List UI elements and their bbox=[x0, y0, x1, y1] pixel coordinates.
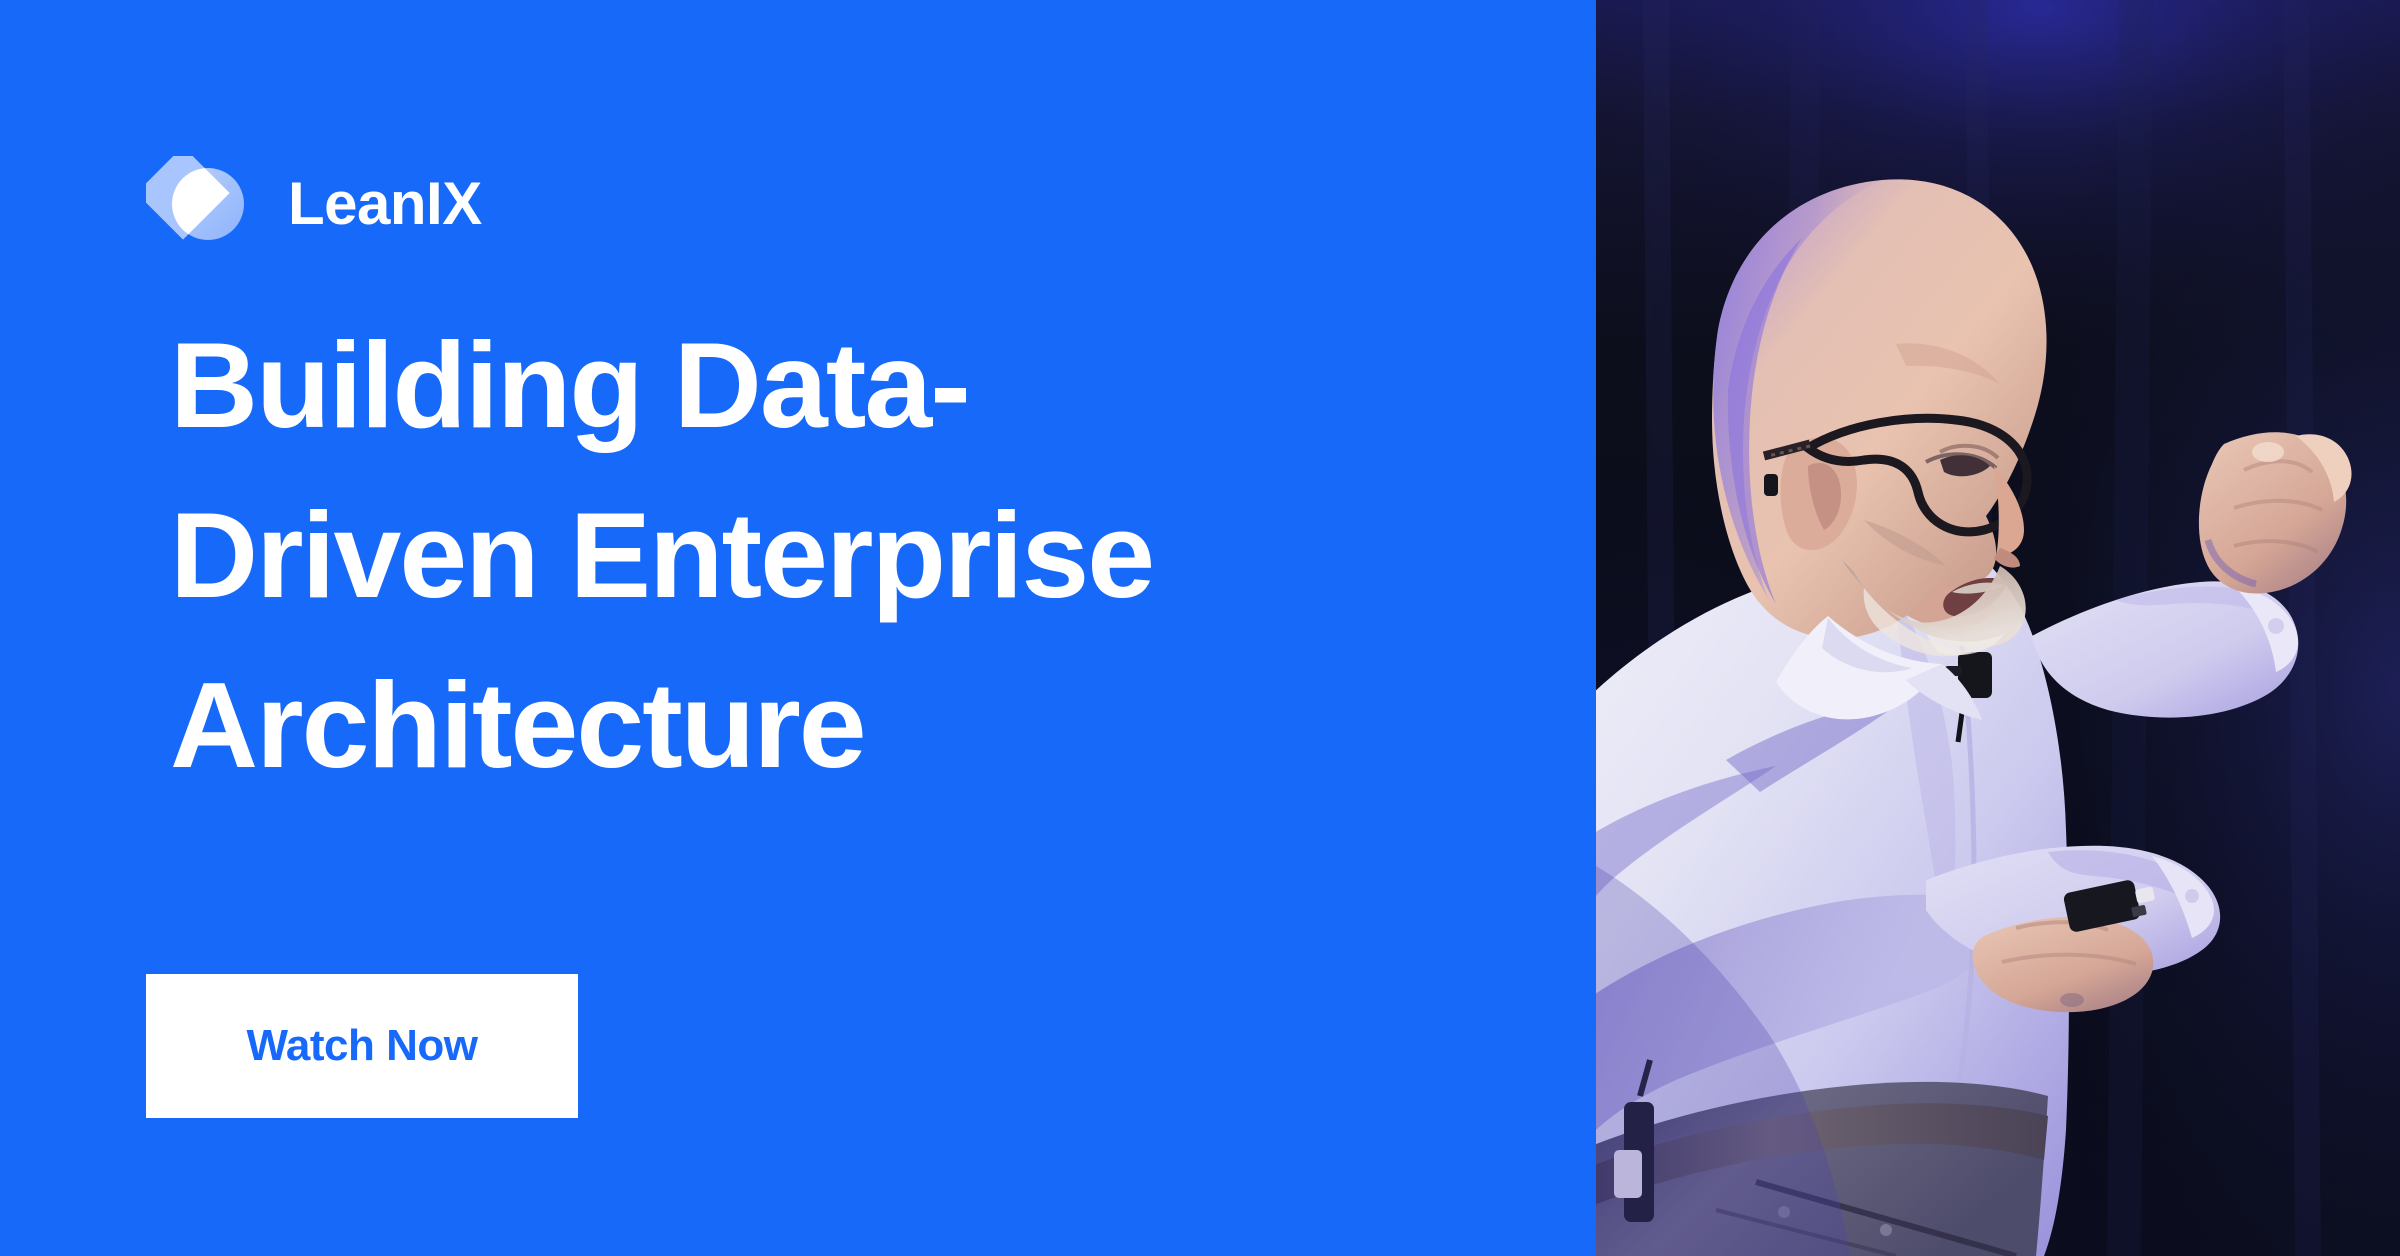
speaker-photo bbox=[1596, 0, 2400, 1256]
brand-logo-lockup[interactable]: LeanIX bbox=[146, 156, 482, 252]
headline-line-1: Building Data- bbox=[170, 300, 1510, 470]
watch-now-button-label: Watch Now bbox=[247, 1024, 478, 1068]
headline: Building Data- Driven Enterprise Archite… bbox=[170, 300, 1510, 810]
promo-banner: LeanIX Building Data- Driven Enterprise … bbox=[0, 0, 2400, 1256]
leanix-diamond-circle-logo-icon bbox=[146, 156, 254, 252]
watch-now-button[interactable]: Watch Now bbox=[146, 974, 578, 1118]
headline-line-2: Driven Enterprise bbox=[170, 470, 1510, 640]
brand-wordmark: LeanIX bbox=[288, 174, 482, 234]
headline-line-3: Architecture bbox=[170, 640, 1510, 810]
content-panel: LeanIX Building Data- Driven Enterprise … bbox=[0, 0, 1596, 1256]
